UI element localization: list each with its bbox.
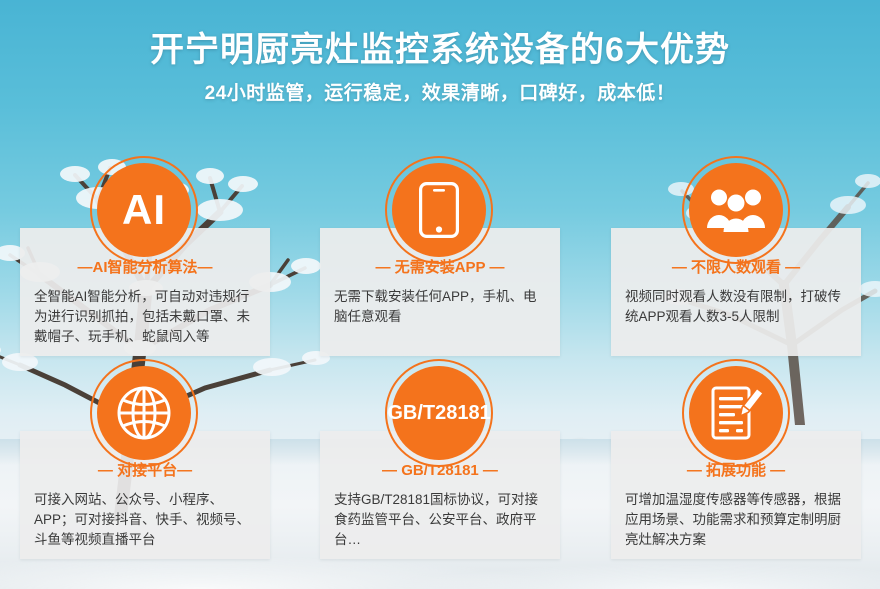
page-subtitle: 24小时监管，运行稳定，效果清晰，口碑好，成本低！ bbox=[0, 84, 880, 103]
badge-label: AI bbox=[122, 189, 166, 231]
card-body: 全智能AI智能分析，可自动对违规行为进行识别抓拍，包括未戴口罩、未戴帽子、玩手机… bbox=[34, 287, 256, 347]
people-group-icon bbox=[689, 163, 783, 257]
document-pen-icon bbox=[689, 366, 783, 460]
card-body: 可接入网站、公众号、小程序、APP；可对接抖音、快手、视频号、斗鱼等视频直播平台 bbox=[34, 490, 256, 550]
card-body: 无需下载安装任何APP，手机、电脑任意观看 bbox=[334, 287, 546, 327]
page-header: 开宁明厨亮灶监控系统设备的6大优势 24小时监管，运行稳定，效果清晰，口碑好，成… bbox=[0, 0, 880, 103]
card-body: 视频同时观看人数没有限制，打破传统APP观看人数3-5人限制 bbox=[625, 287, 847, 327]
ai-text-icon: AI bbox=[97, 163, 191, 257]
card-body: 可增加温湿度传感器等传感器，根据应用场景、功能需求和预算定制明厨亮灶解决方案 bbox=[625, 490, 847, 550]
badge-label: GB/T28181 bbox=[387, 403, 490, 423]
smartphone-icon bbox=[392, 163, 486, 257]
card-body: 支持GB/T28181国标协议，可对接食药监管平台、公安平台、政府平台… bbox=[334, 490, 546, 550]
globe-icon bbox=[97, 366, 191, 460]
page-title: 开宁明厨亮灶监控系统设备的6大优势 bbox=[0, 33, 880, 67]
gbt28181-text-icon: GB/T28181 bbox=[392, 366, 486, 460]
